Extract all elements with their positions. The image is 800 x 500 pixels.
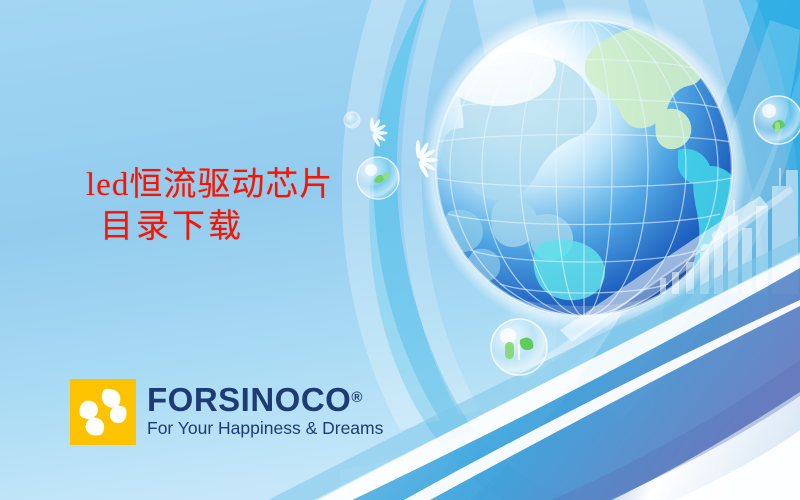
logo-mark xyxy=(70,379,136,445)
registered-trademark-icon: ® xyxy=(351,389,362,406)
bubble-2 xyxy=(491,319,547,375)
company-logo[interactable]: FORSINOCO® For Your Happiness & Dreams xyxy=(70,379,383,445)
headline-line-2: 目录下载 xyxy=(86,206,426,248)
logo-wordmark: FORSINOCO® xyxy=(147,383,383,416)
four-petal-pinwheel-icon xyxy=(70,379,136,445)
headline-line-1: led恒流驱动芯片 xyxy=(86,164,426,206)
bubble-4 xyxy=(344,112,360,128)
headline-text: led恒流驱动芯片 目录下载 xyxy=(86,164,426,248)
logo-text-block: FORSINOCO® For Your Happiness & Dreams xyxy=(147,379,383,438)
promo-banner: led恒流驱动芯片 目录下载 FORSINOCO® xyxy=(0,0,800,500)
bubble-3 xyxy=(754,96,800,144)
logo-tagline: For Your Happiness & Dreams xyxy=(147,419,383,438)
logo-wordmark-text: FORSINOCO xyxy=(147,381,351,418)
